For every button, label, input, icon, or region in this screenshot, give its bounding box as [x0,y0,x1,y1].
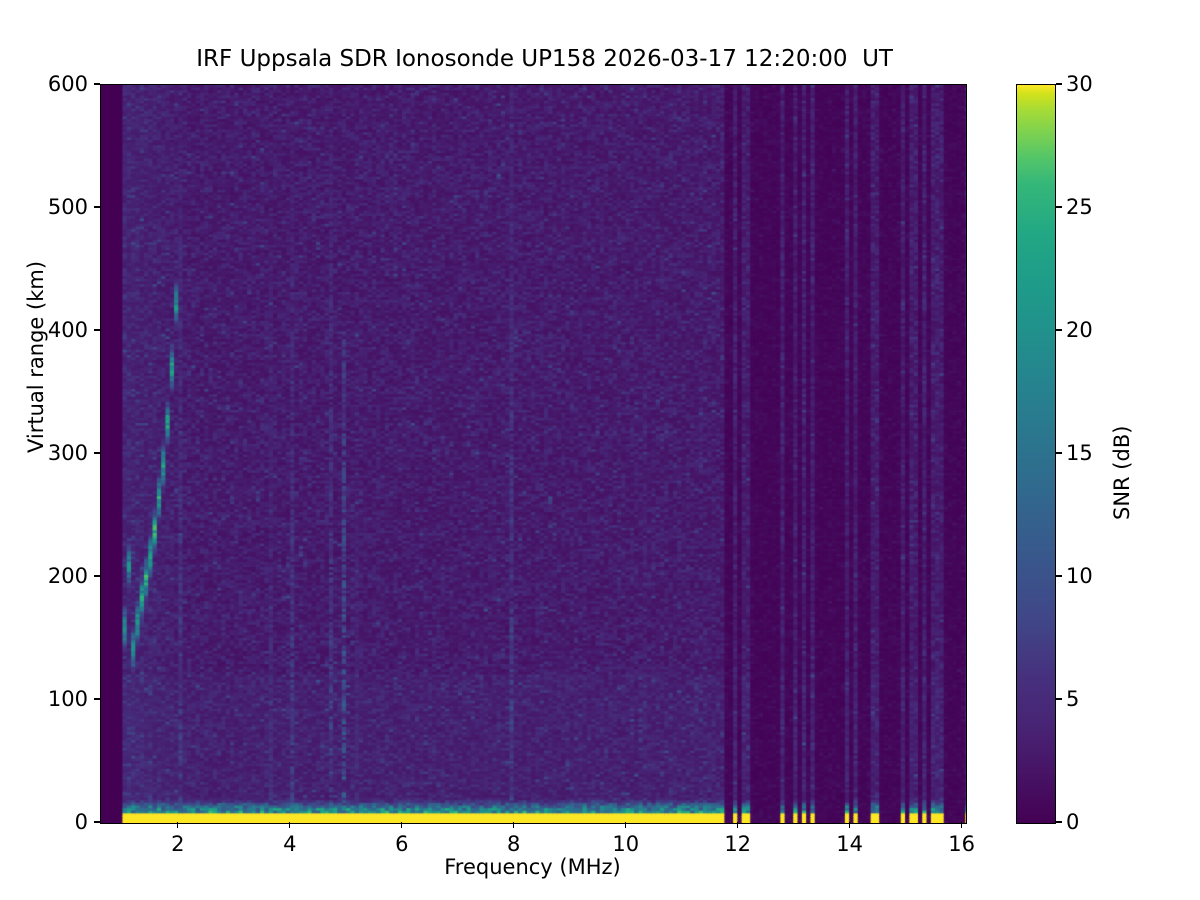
colorbar-tick-label: 0 [1066,810,1079,834]
colorbar-label: SNR (dB) [1110,426,1134,520]
x-tick-mark [513,822,514,828]
x-tick-mark [401,822,402,828]
y-tick-label: 600 [48,72,88,96]
colorbar-tick-label: 10 [1066,564,1093,588]
colorbar-tick-label: 30 [1066,72,1093,96]
colorbar-tick-label: 15 [1066,441,1093,465]
y-tick-mark [94,83,100,84]
x-tick-mark [625,822,626,828]
x-tick-label: 14 [836,832,863,856]
x-tick-mark [737,822,738,828]
x-tick-mark [961,822,962,828]
colorbar-tick-mark [1056,821,1062,822]
x-tick-label: 2 [171,832,184,856]
colorbar-tick-label: 25 [1066,195,1093,219]
x-tick-label: 12 [724,832,751,856]
y-tick-mark [94,698,100,699]
ionogram-heatmap-canvas [101,85,966,823]
colorbar-tick-mark [1056,575,1062,576]
colorbar-tick-mark [1056,206,1062,207]
colorbar[interactable] [1016,84,1056,824]
colorbar-tick-mark [1056,83,1062,84]
x-tick-label: 10 [612,832,639,856]
y-tick-label: 100 [48,687,88,711]
colorbar-tick-mark [1056,698,1062,699]
ionogram-plot-area[interactable] [100,84,967,824]
x-tick-mark [177,822,178,828]
x-tick-label: 6 [395,832,408,856]
y-tick-label: 200 [48,564,88,588]
x-tick-label: 8 [507,832,520,856]
x-tick-mark [289,822,290,828]
y-tick-label: 400 [48,318,88,342]
colorbar-tick-mark [1056,452,1062,453]
y-axis-label: Virtual range (km) [24,261,48,453]
ionogram-figure: IRF Uppsala SDR Ionosonde UP158 2026-03-… [0,0,1200,900]
y-tick-mark [94,206,100,207]
y-tick-mark [94,575,100,576]
x-axis-label: Frequency (MHz) [100,855,965,879]
figure-title-line1: IRF Uppsala SDR Ionosonde UP158 2026-03-… [196,46,893,72]
x-tick-label: 16 [948,832,975,856]
colorbar-tick-label: 5 [1066,687,1079,711]
x-tick-mark [849,822,850,828]
y-tick-label: 300 [48,441,88,465]
y-tick-mark [94,452,100,453]
y-tick-mark [94,329,100,330]
colorbar-tick-label: 20 [1066,318,1093,342]
y-tick-label: 500 [48,195,88,219]
y-tick-mark [94,821,100,822]
x-tick-label: 4 [283,832,296,856]
y-tick-label: 0 [75,810,88,834]
colorbar-tick-mark [1056,329,1062,330]
